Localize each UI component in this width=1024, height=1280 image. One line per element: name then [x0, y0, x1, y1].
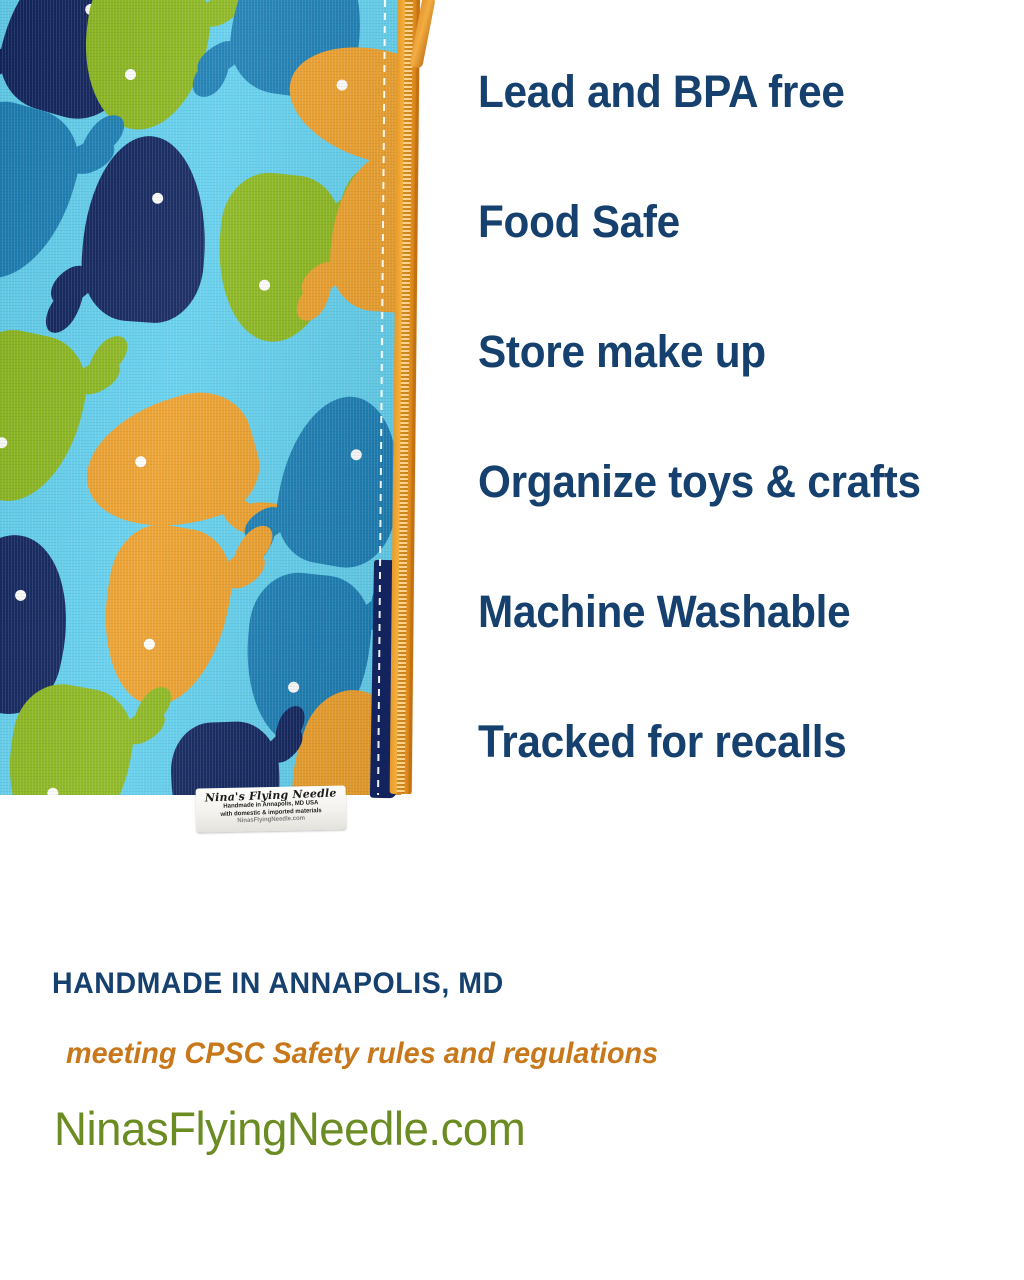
- whale-body: [0, 321, 96, 513]
- feature-item: Organize toys & crafts: [478, 458, 976, 506]
- whale-motif: [0, 90, 92, 294]
- whale-motif: [327, 148, 401, 316]
- whale-motif: [210, 168, 347, 348]
- product-photo: Nina's Flying Needle Handmade in Annapol…: [0, 0, 441, 800]
- whale-body: [327, 148, 401, 316]
- whale-motif: [169, 720, 282, 795]
- feature-list: Lead and BPA free Food Safe Store make u…: [478, 68, 1008, 766]
- whale-body: [72, 0, 218, 139]
- whale-motif: [72, 0, 218, 139]
- feature-item: Store make up: [478, 328, 976, 376]
- feature-item: Machine Washable: [478, 588, 976, 636]
- feature-item: Lead and BPA free: [478, 68, 976, 116]
- whale-motif: [89, 517, 240, 715]
- whale-body: [210, 168, 347, 348]
- whale-motif: [78, 132, 213, 326]
- whale-body: [89, 517, 240, 715]
- handmade-location-text: HANDMADE IN ANNAPOLIS, MD: [52, 966, 504, 1002]
- whale-motif: [0, 677, 141, 795]
- feature-item: Tracked for recalls: [478, 718, 976, 766]
- whale-print-fabric-panel: [0, 0, 401, 795]
- whale-body: [78, 132, 213, 326]
- whale-motif: [0, 321, 96, 513]
- whale-body: [0, 90, 92, 294]
- woven-brand-label: Nina's Flying Needle Handmade in Annapol…: [196, 785, 347, 832]
- feature-item: Food Safe: [478, 198, 976, 246]
- cpsc-compliance-text: meeting CPSC Safety rules and regulation…: [66, 1036, 658, 1072]
- website-url-text: NinasFlyingNeedle.com: [54, 1102, 525, 1156]
- whale-motif: [71, 380, 271, 549]
